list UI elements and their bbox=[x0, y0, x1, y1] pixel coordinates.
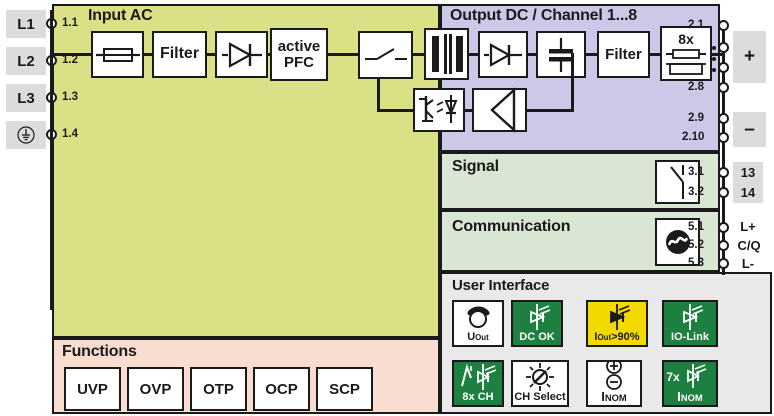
signal-title: Signal bbox=[452, 158, 499, 176]
wire-capacitor-filter bbox=[585, 53, 598, 56]
ui-tile-inom-adjust[interactable]: INOM bbox=[586, 360, 642, 407]
block-fuse bbox=[91, 31, 144, 78]
svg-text:7x: 7x bbox=[666, 370, 680, 384]
terminal-chip-lplus: L+ bbox=[731, 217, 765, 236]
block-switch bbox=[358, 31, 413, 79]
block-diagram-canvas: Input AC Output DC / Channel 1...8 Signa… bbox=[0, 0, 774, 416]
wire-opto-amp bbox=[464, 109, 473, 112]
terminal-number-2-1: 2.1 bbox=[688, 19, 704, 31]
terminal-number-5-2: 5.2 bbox=[688, 239, 704, 251]
terminal-number-1-3: 1.3 bbox=[62, 91, 78, 103]
terminal-dot-2-mid1[interactable] bbox=[718, 42, 729, 53]
functions-title: Functions bbox=[62, 343, 137, 361]
terminal-chip-l2: L2 bbox=[6, 47, 46, 75]
wire-amp-sense-horizontal bbox=[526, 109, 574, 112]
transformer-icon bbox=[430, 34, 464, 74]
led-icon bbox=[513, 302, 561, 332]
terminal-dot-3-1[interactable] bbox=[718, 167, 729, 178]
function-box-ovp: OVP bbox=[127, 367, 184, 411]
block-channel-fuses: 8x bbox=[660, 26, 712, 81]
block-control-amplifier bbox=[472, 88, 527, 132]
block-input-filter: Filter bbox=[152, 31, 207, 78]
wire-transformer-diode bbox=[468, 53, 479, 56]
active-pfc-label: active PFC bbox=[278, 39, 321, 70]
terminal-number-3-2: 3.2 bbox=[688, 186, 704, 198]
channel-fuse-icon: 8x bbox=[664, 31, 708, 77]
terminal-number-2-10: 2.10 bbox=[682, 131, 704, 143]
user-interface-title: User Interface bbox=[452, 277, 549, 294]
block-output-capacitor bbox=[536, 31, 586, 78]
plus-minus-icon bbox=[588, 360, 640, 390]
wire-pfc-switch bbox=[327, 53, 359, 56]
terminal-ellipsis-dots bbox=[710, 42, 718, 76]
terminal-number-5-1: 5.1 bbox=[688, 221, 704, 233]
block-output-filter: Filter bbox=[597, 31, 650, 78]
wire-output-bus-vertical bbox=[722, 20, 725, 275]
terminal-dot-2-mid2[interactable] bbox=[718, 62, 729, 73]
ui-tile-ch-select[interactable]: CH Select bbox=[511, 360, 569, 407]
terminal-dot-5-2[interactable] bbox=[718, 240, 729, 251]
active-pfc-line2: PFC bbox=[284, 54, 314, 71]
ui-tile-8x-ch-label: 8x CH bbox=[462, 392, 493, 405]
u-out-main: U bbox=[467, 331, 475, 343]
terminal-number-5-3: 5.3 bbox=[688, 257, 704, 269]
output-dc-title: Output DC / Channel 1...8 bbox=[450, 7, 637, 25]
led-icon bbox=[588, 302, 646, 332]
terminal-chip-lminus: L- bbox=[731, 254, 765, 273]
output-filter-label: Filter bbox=[605, 47, 642, 62]
knob-icon bbox=[454, 302, 502, 332]
inom7-sub: NOM bbox=[681, 393, 703, 403]
function-box-ocp: OCP bbox=[253, 367, 310, 411]
function-box-scp: SCP bbox=[316, 367, 373, 411]
terminal-chip-minus: – bbox=[733, 112, 766, 147]
switch-icon bbox=[365, 44, 407, 66]
terminal-number-3-1: 3.1 bbox=[688, 166, 704, 178]
wire-switch-feedback-vertical bbox=[377, 78, 380, 111]
wire-amp-sense-vertical bbox=[571, 53, 574, 111]
channel-led-icon bbox=[454, 362, 502, 392]
iout-tail: >90% bbox=[611, 331, 639, 343]
wire-rect-pfc bbox=[267, 53, 271, 56]
amplifier-icon bbox=[480, 90, 520, 130]
terminal-dot-2-8[interactable] bbox=[718, 82, 729, 93]
ui-tile-7x-inom-label: INOM bbox=[677, 390, 702, 405]
optocoupler-icon bbox=[417, 93, 461, 127]
select-knob-icon bbox=[513, 362, 567, 392]
communication-title: Communication bbox=[452, 218, 570, 236]
function-box-uvp: UVP bbox=[64, 367, 121, 411]
block-optocoupler bbox=[413, 88, 465, 132]
ui-tile-dc-ok-label: DC OK bbox=[519, 332, 554, 345]
ui-tile-io-link-label: IO-Link bbox=[671, 332, 709, 345]
inom-sub: NOM bbox=[605, 393, 627, 403]
terminal-chip-13: 13 bbox=[733, 162, 763, 183]
svg-text:8x: 8x bbox=[678, 31, 694, 47]
diode-icon bbox=[484, 42, 522, 68]
terminal-number-1-4: 1.4 bbox=[62, 128, 78, 140]
terminal-number-1-1: 1.1 bbox=[62, 17, 78, 29]
u-out-sub: Out bbox=[475, 333, 489, 342]
terminal-number-2-8: 2.8 bbox=[688, 81, 704, 93]
ui-tile-dc-ok[interactable]: DC OK bbox=[511, 300, 563, 347]
terminal-chip-l1: L1 bbox=[6, 10, 46, 38]
wire-switch-feedback-horizontal bbox=[377, 109, 413, 112]
terminal-dot-2-1[interactable] bbox=[718, 20, 729, 31]
ui-tile-7x-inom[interactable]: 7x INOM bbox=[662, 360, 718, 407]
terminal-dot-2-9[interactable] bbox=[718, 113, 729, 124]
wire-diode-capacitor bbox=[527, 53, 537, 56]
led-icon: 7x bbox=[664, 362, 716, 390]
wire-filter-fuses bbox=[649, 53, 661, 56]
wire-fuse-filter bbox=[143, 53, 153, 56]
earth-icon bbox=[16, 125, 36, 145]
terminal-number-2-9: 2.9 bbox=[688, 112, 704, 124]
terminal-dot-5-3[interactable] bbox=[718, 258, 729, 269]
block-output-diode bbox=[478, 31, 528, 78]
terminal-dot-2-10[interactable] bbox=[718, 132, 729, 143]
wire-filter-rect bbox=[206, 53, 216, 56]
terminal-chip-earth bbox=[6, 121, 46, 149]
ui-tile-iout-90-label: IOut>90% bbox=[594, 332, 639, 345]
led-icon bbox=[664, 302, 716, 332]
ui-tile-u-out-label: UOut bbox=[467, 332, 489, 345]
ui-tile-io-link[interactable]: IO-Link bbox=[662, 300, 718, 347]
fuse-icon bbox=[96, 44, 140, 66]
block-transformer bbox=[424, 28, 469, 80]
block-rectifier bbox=[215, 31, 268, 78]
block-active-pfc: active PFC bbox=[270, 28, 328, 81]
terminal-dot-3-2[interactable] bbox=[718, 187, 729, 198]
function-box-otp: OTP bbox=[190, 367, 247, 411]
terminal-chip-plus: + bbox=[733, 31, 766, 83]
terminal-chip-cq: C/Q bbox=[729, 236, 769, 255]
input-filter-label: Filter bbox=[160, 46, 199, 62]
ui-tile-8x-ch[interactable]: 8x CH bbox=[452, 360, 504, 407]
terminal-dot-5-1[interactable] bbox=[718, 222, 729, 233]
ui-tile-u-out[interactable]: UOut bbox=[452, 300, 504, 347]
ui-tile-iout-90[interactable]: IOut>90% bbox=[586, 300, 648, 347]
wire-fuse-in bbox=[52, 53, 92, 56]
iout-sub: Out bbox=[597, 333, 611, 342]
rectifier-icon bbox=[222, 41, 262, 69]
terminal-chip-14: 14 bbox=[733, 182, 763, 203]
ui-tile-inom-label: INOM bbox=[601, 390, 626, 405]
input-ac-title: Input AC bbox=[88, 7, 152, 25]
ui-tile-ch-select-label: CH Select bbox=[514, 392, 565, 405]
terminal-chip-l3: L3 bbox=[6, 84, 46, 112]
